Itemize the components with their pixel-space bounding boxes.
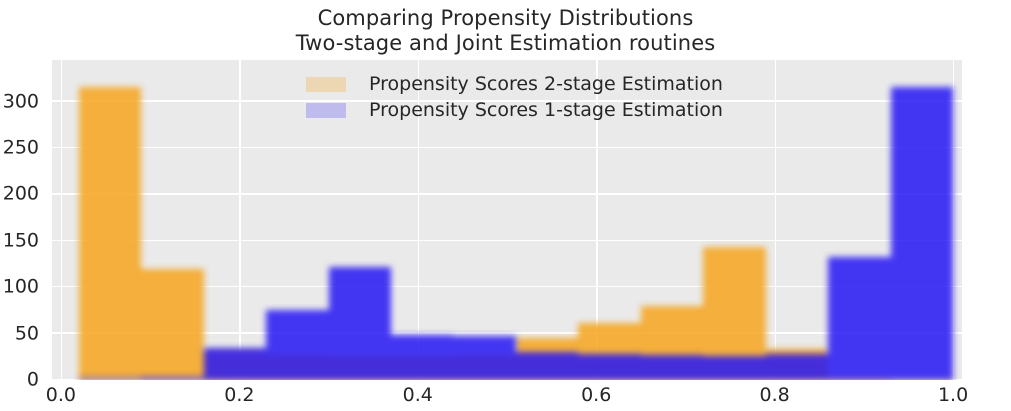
histogram-bar [266, 310, 328, 380]
histogram-bar [391, 335, 453, 380]
histogram-bar [329, 267, 391, 380]
legend: Propensity Scores 2-stage Estimation Pro… [306, 71, 776, 123]
legend-swatch-icon-2-stage [306, 77, 346, 92]
y-tick-label: 300 [0, 92, 49, 111]
histogram-bar [453, 336, 515, 380]
y-tick-label: 200 [0, 185, 49, 204]
y-tick-label: 250 [0, 139, 49, 158]
histogram-bar [766, 354, 828, 380]
chart-title: Comparing Propensity Distributions Two-s… [0, 6, 1011, 56]
histogram-bar [204, 348, 266, 380]
legend-label-2-stage: Propensity Scores 2-stage Estimation [369, 73, 723, 95]
chart-title-line-2: Two-stage and Joint Estimation routines [0, 31, 1011, 56]
y-tick-label: 100 [0, 278, 49, 297]
legend-item-1-stage: Propensity Scores 1-stage Estimation [306, 97, 776, 123]
x-tick-label: 0.8 [730, 386, 820, 405]
histogram-bar [578, 354, 640, 380]
x-tick-label: 1.0 [908, 386, 998, 405]
y-tick-label: 150 [0, 231, 49, 250]
figure: Comparing Propensity Distributions Two-s… [0, 0, 1011, 411]
chart-title-line-1: Comparing Propensity Distributions [0, 6, 1011, 31]
y-tick-label: 50 [0, 324, 49, 343]
histogram-bar [141, 377, 203, 380]
x-tick-label: 0.6 [551, 386, 641, 405]
histogram-bar [703, 356, 765, 380]
histogram-bar [641, 355, 703, 380]
legend-label-1-stage: Propensity Scores 1-stage Estimation [369, 99, 723, 121]
histogram-bar [516, 352, 578, 380]
x-tick-label: 0.4 [373, 386, 463, 405]
x-tick-label: 0.0 [16, 386, 106, 405]
histogram-bar [828, 257, 890, 380]
legend-swatch-icon-1-stage [306, 103, 346, 118]
histogram-bar [79, 378, 141, 380]
histogram-bar [891, 87, 953, 380]
legend-item-2-stage: Propensity Scores 2-stage Estimation [306, 71, 776, 97]
x-tick-label: 0.2 [194, 386, 284, 405]
